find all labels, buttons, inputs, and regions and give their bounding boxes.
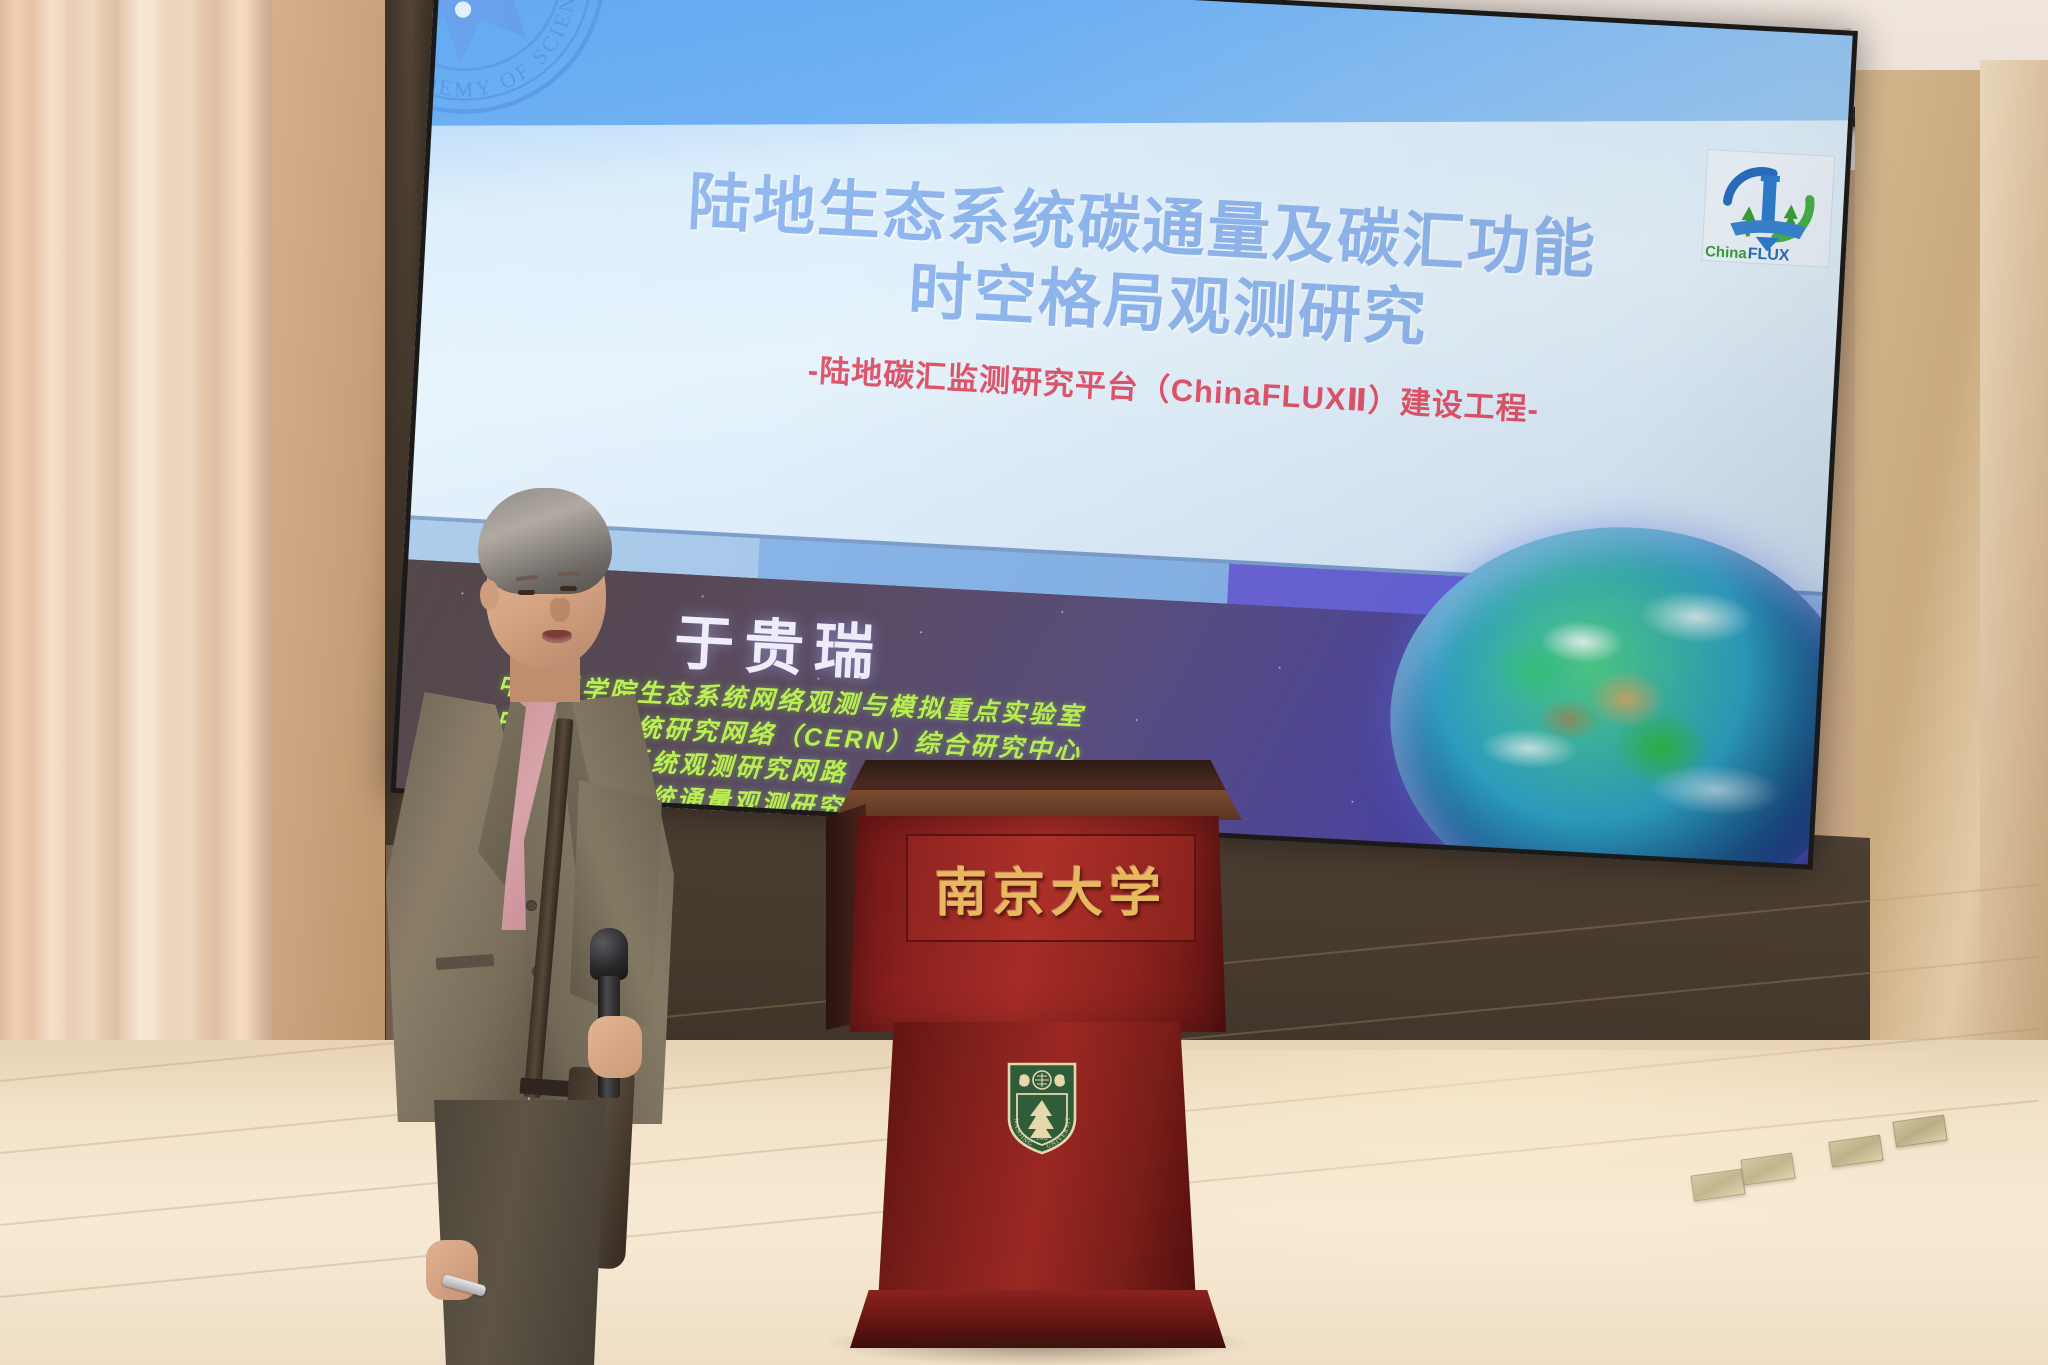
trousers bbox=[418, 1100, 618, 1365]
blazer-button bbox=[526, 900, 537, 911]
podium-top-edge bbox=[834, 790, 1242, 820]
lectern-podium: 南京大学 1902 NANJING UNIVERSITY bbox=[828, 760, 1248, 1365]
podium-front-face: 南京大学 bbox=[850, 816, 1226, 1032]
floor-outlet-plate bbox=[1740, 1153, 1795, 1186]
floor-outlet-plate bbox=[1828, 1135, 1883, 1168]
standing-presenter bbox=[392, 480, 722, 1365]
floor-outlet-plate bbox=[1690, 1169, 1745, 1202]
ear bbox=[480, 580, 499, 610]
floor-outlet-plate bbox=[1892, 1115, 1947, 1148]
podium-nameplate-text: 南京大学 bbox=[908, 836, 1194, 940]
nose bbox=[550, 598, 570, 622]
mouth bbox=[542, 630, 572, 643]
hand-holding-microphone bbox=[588, 1016, 642, 1078]
presentation-scene: CHINESE ACADEMY OF SCIENCES bbox=[0, 0, 2048, 1365]
podium-nameplate: 南京大学 bbox=[906, 834, 1196, 942]
right-wall-edge-strip bbox=[1980, 60, 2048, 1100]
hair bbox=[478, 488, 612, 594]
nanjing-university-crest: 1902 NANJING UNIVERSITY bbox=[1003, 1060, 1081, 1156]
podium-floor-shadow bbox=[828, 1336, 1248, 1365]
stage-curtain-folds bbox=[12, 0, 282, 1160]
crest-year: 1902 bbox=[1036, 1136, 1048, 1142]
microphone-head bbox=[590, 928, 628, 980]
